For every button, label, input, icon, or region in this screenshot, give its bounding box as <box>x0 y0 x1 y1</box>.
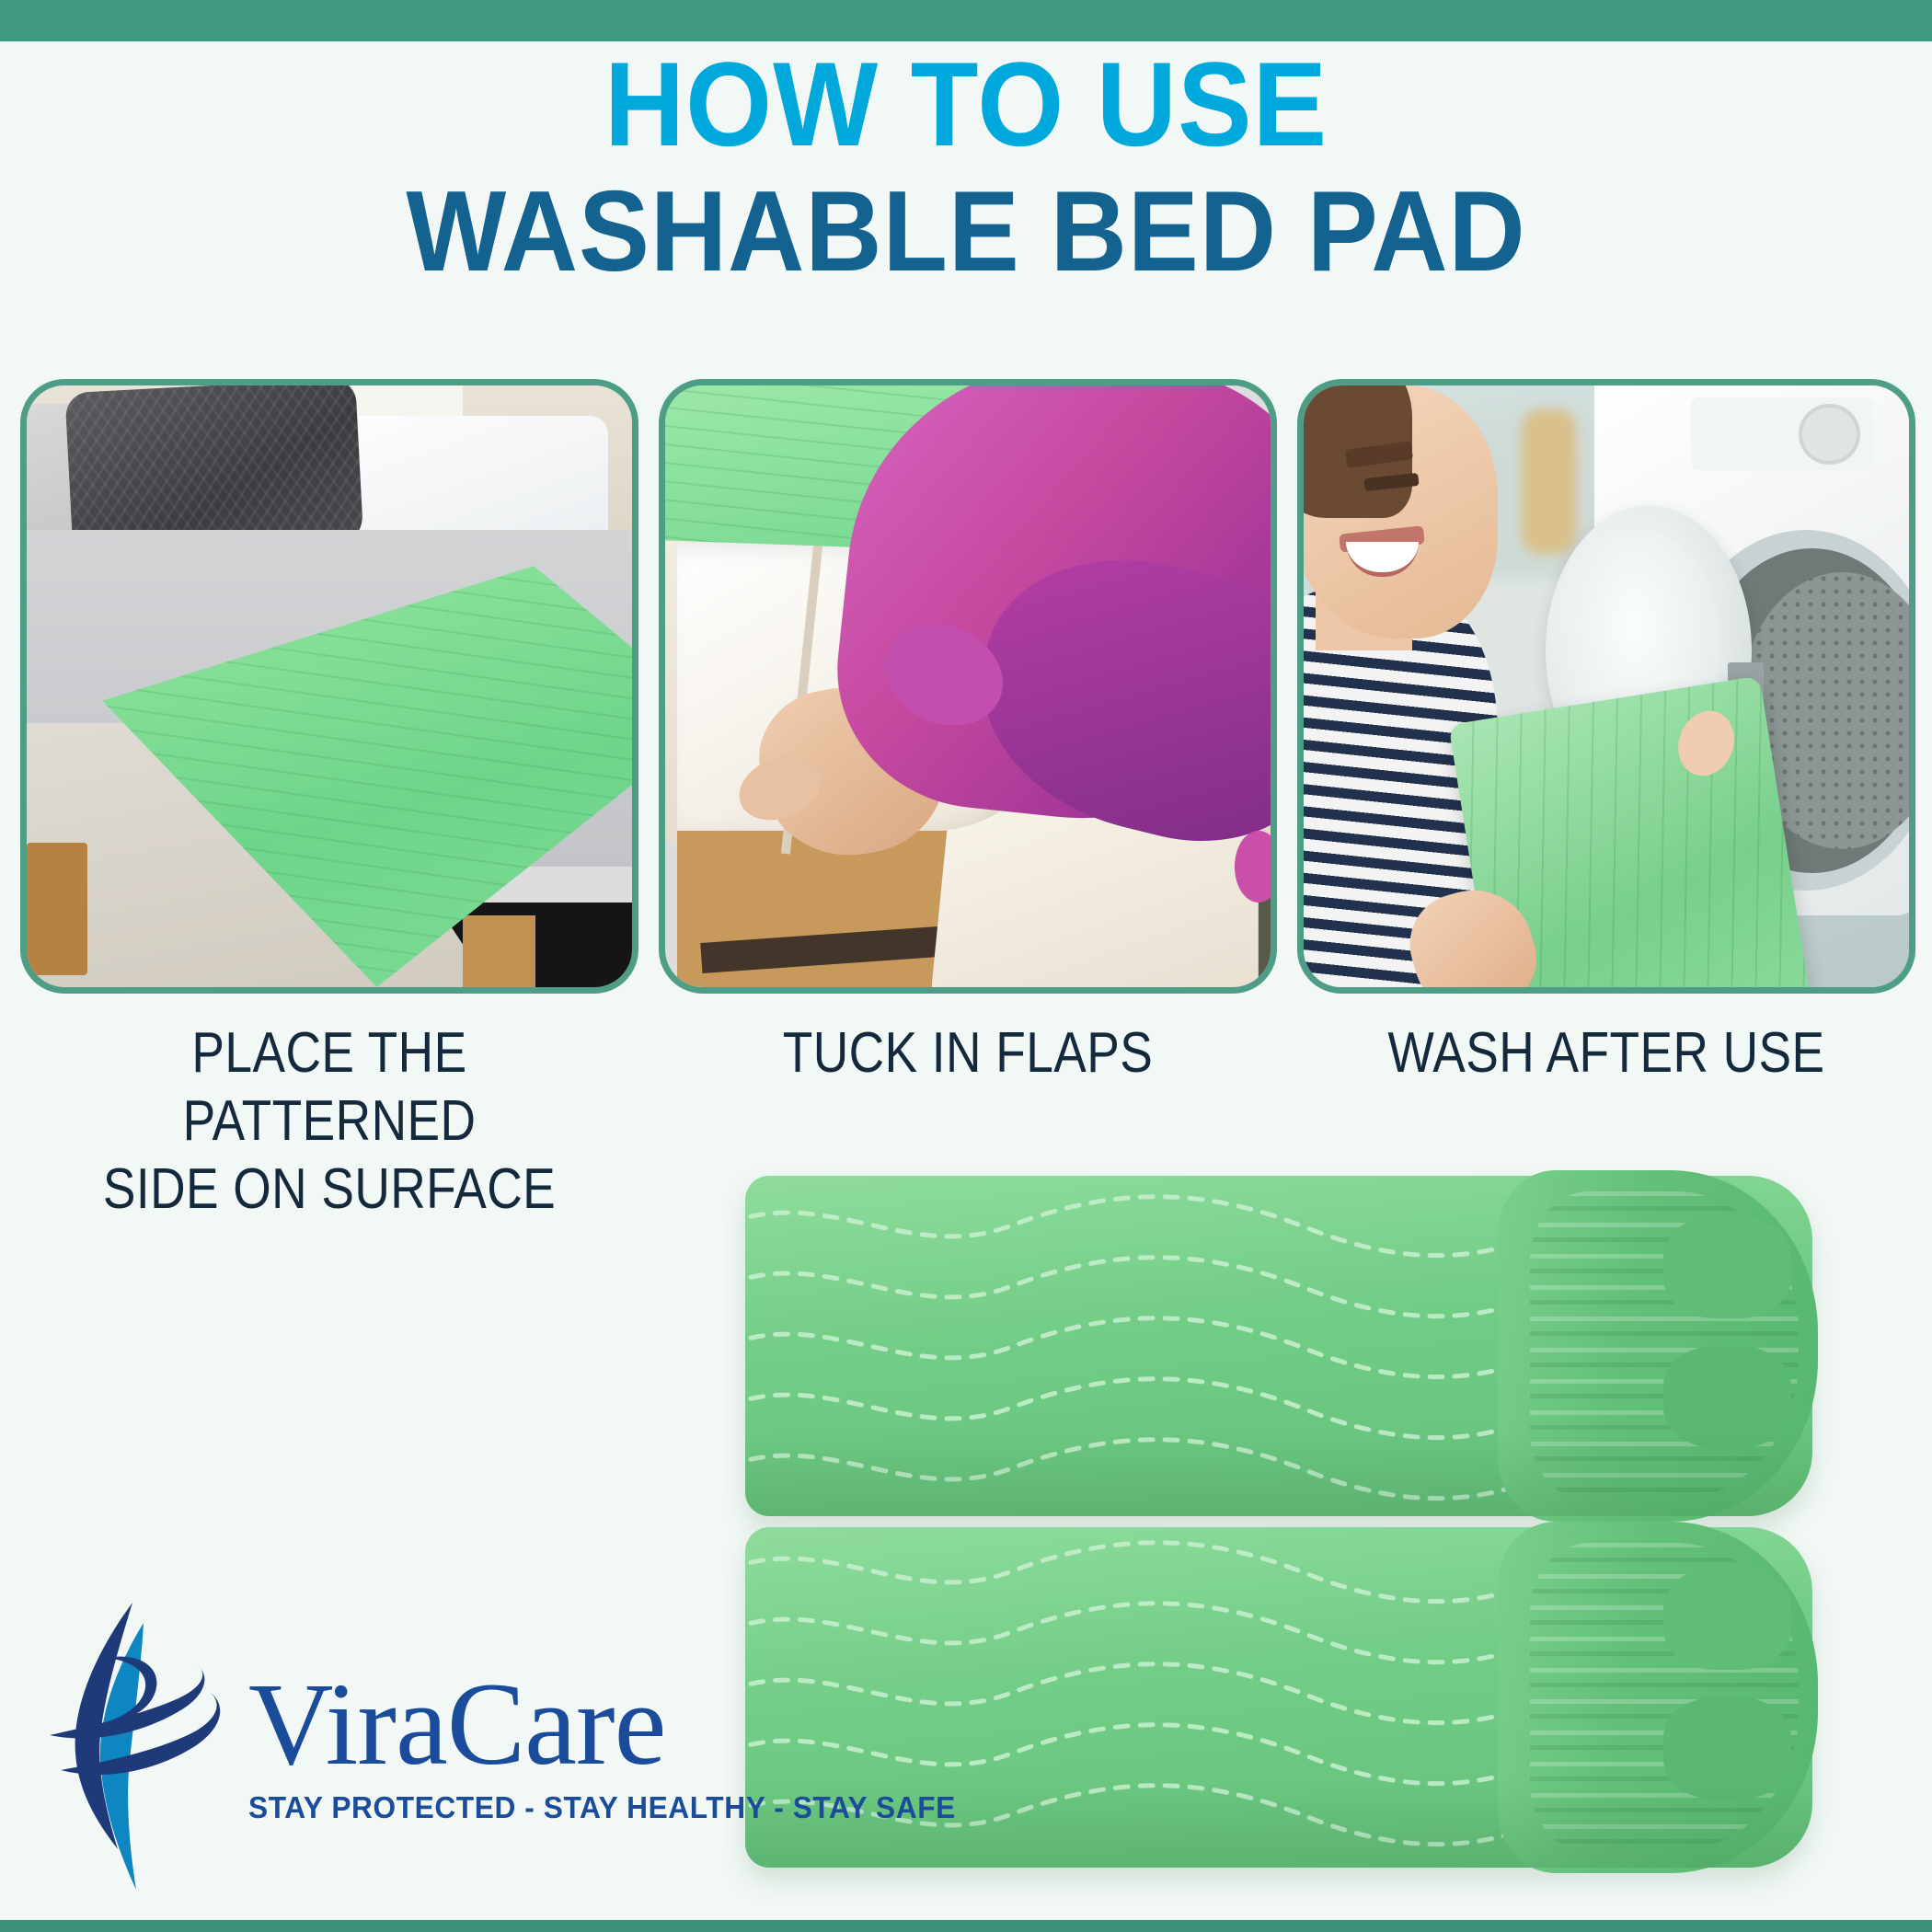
step-caption-3-line-1: WASH AFTER USE <box>1340 1019 1872 1087</box>
step-photo-1 <box>20 379 638 994</box>
title-line-2: WASHABLE BED PAD <box>68 173 1865 291</box>
step-caption-1-line-2: SIDE ON SURFACE <box>63 1156 595 1224</box>
step-caption-1-line-1: PLACE THE PATTERNED <box>63 1019 595 1156</box>
step-caption-2: TUCK IN FLAPS <box>702 1019 1234 1087</box>
top-border <box>0 0 1932 41</box>
brand-tagline: STAY PROTECTED - STAY HEALTHY - STAY SAF… <box>248 1790 707 1825</box>
step-photo-row <box>20 379 1915 994</box>
washing-machine-illustration <box>1304 385 1909 987</box>
step-caption-1: PLACE THE PATTERNED SIDE ON SURFACE <box>63 1019 595 1224</box>
folded-pad-top <box>745 1176 1812 1516</box>
page-title: HOW TO USE WASHABLE BED PAD <box>0 44 1932 291</box>
step-caption-row: PLACE THE PATTERNED SIDE ON SURFACE TUCK… <box>20 1019 1915 1167</box>
step-caption-3: WASH AFTER USE <box>1340 1019 1872 1087</box>
bottom-border <box>0 1920 1932 1932</box>
title-line-1: HOW TO USE <box>68 44 1865 164</box>
step-photo-3 <box>1297 379 1915 994</box>
brand-name: ViraCare <box>248 1663 727 1785</box>
bed-scene-illustration <box>27 385 632 987</box>
brand-logo-text: ViraCare STAY PROTECTED - STAY HEALTHY -… <box>248 1663 727 1825</box>
brand-logo: ViraCare STAY PROTECTED - STAY HEALTHY -… <box>48 1599 729 1893</box>
step-caption-2-line-1: TUCK IN FLAPS <box>702 1019 1234 1087</box>
step-photo-2 <box>659 379 1277 994</box>
tuck-flaps-illustration <box>665 385 1271 987</box>
viracare-swoosh-icon <box>48 1599 241 1893</box>
